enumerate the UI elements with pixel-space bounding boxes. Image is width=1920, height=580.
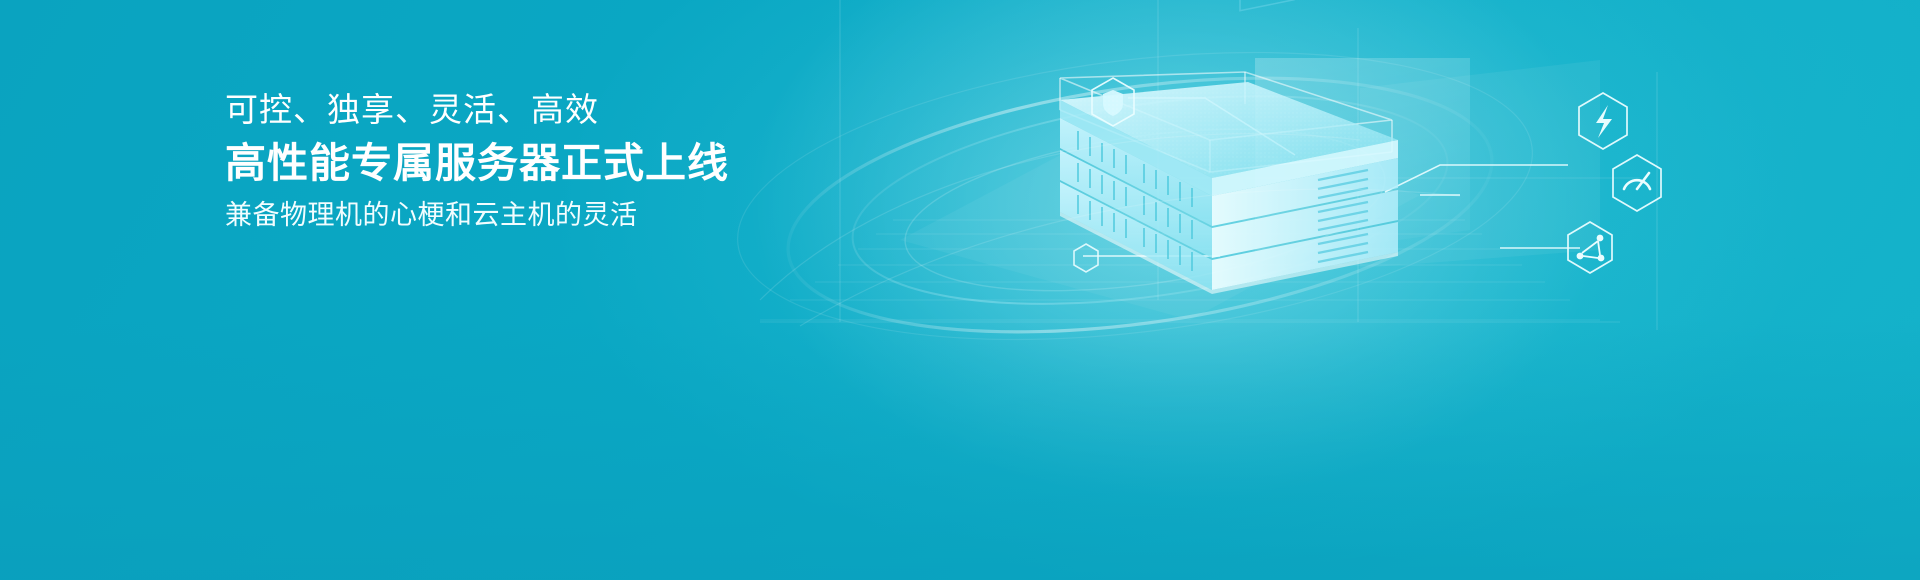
promo-banner: 可控、独享、灵活、高效 高性能专属服务器正式上线 兼备物理机的心梗和云主机的灵活 bbox=[0, 0, 1920, 580]
banner-copy: 可控、独享、灵活、高效 高性能专属服务器正式上线 兼备物理机的心梗和云主机的灵活 bbox=[225, 88, 729, 234]
banner-kicker: 可控、独享、灵活、高效 bbox=[225, 88, 729, 132]
banner-subline: 兼备物理机的心梗和云主机的灵活 bbox=[225, 196, 729, 234]
banner-headline: 高性能专属服务器正式上线 bbox=[225, 138, 729, 188]
gauge-icon bbox=[1613, 155, 1661, 211]
bottom-fade bbox=[0, 320, 1920, 580]
